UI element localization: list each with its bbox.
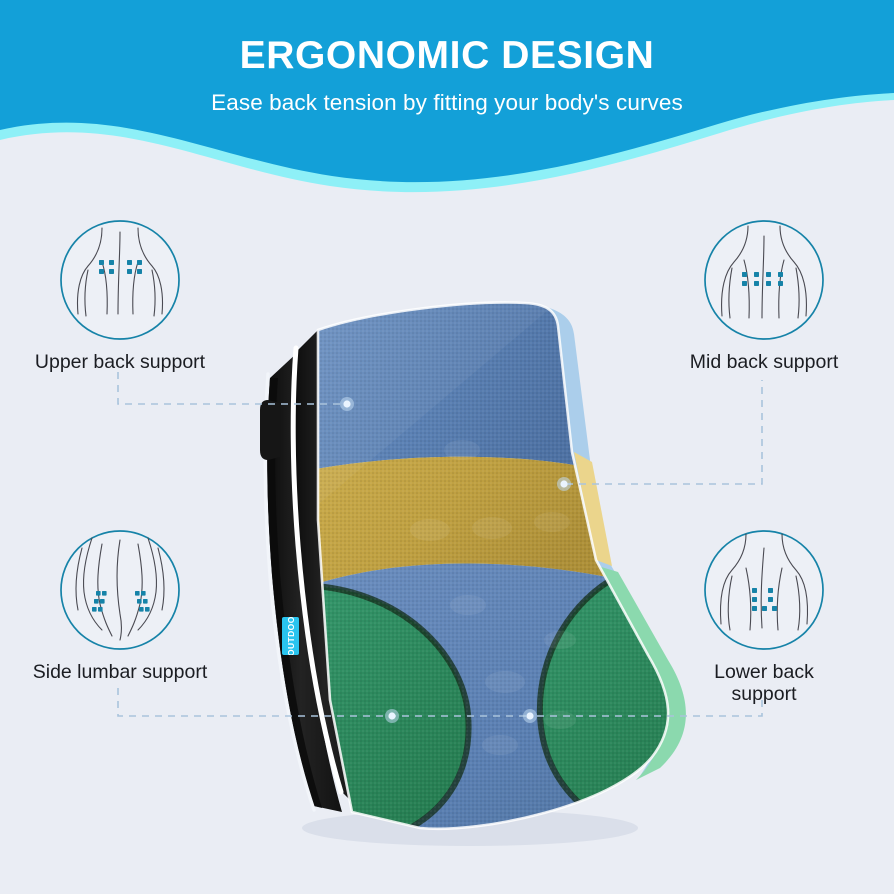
callout-mid-back-label: Mid back support	[644, 352, 884, 374]
infographic-poster: ERGONOMIC DESIGN Ease back tension by fi…	[0, 0, 894, 894]
callout-side-lumbar[interactable]: Side lumbar support	[0, 528, 240, 684]
header-wave-shape	[0, 0, 894, 200]
brand-tag: OUTDOO	[282, 617, 299, 655]
back-mid-icon	[702, 218, 826, 342]
back-side-lumbar-icon	[58, 528, 182, 652]
callout-upper-back-label: Upper back support	[0, 352, 240, 374]
callout-upper-back[interactable]: Upper back support	[0, 218, 240, 374]
back-upper-icon	[58, 218, 182, 342]
back-lower-icon	[702, 528, 826, 652]
callout-lower-back-label: Lower back support	[644, 662, 884, 706]
callout-lower-back[interactable]: Lower back support	[644, 528, 884, 706]
header-banner: ERGONOMIC DESIGN Ease back tension by fi…	[0, 0, 894, 200]
brand-tag-label: OUTDOO	[282, 618, 299, 655]
callout-mid-back[interactable]: Mid back support	[644, 218, 884, 374]
callout-side-lumbar-label: Side lumbar support	[0, 662, 240, 684]
